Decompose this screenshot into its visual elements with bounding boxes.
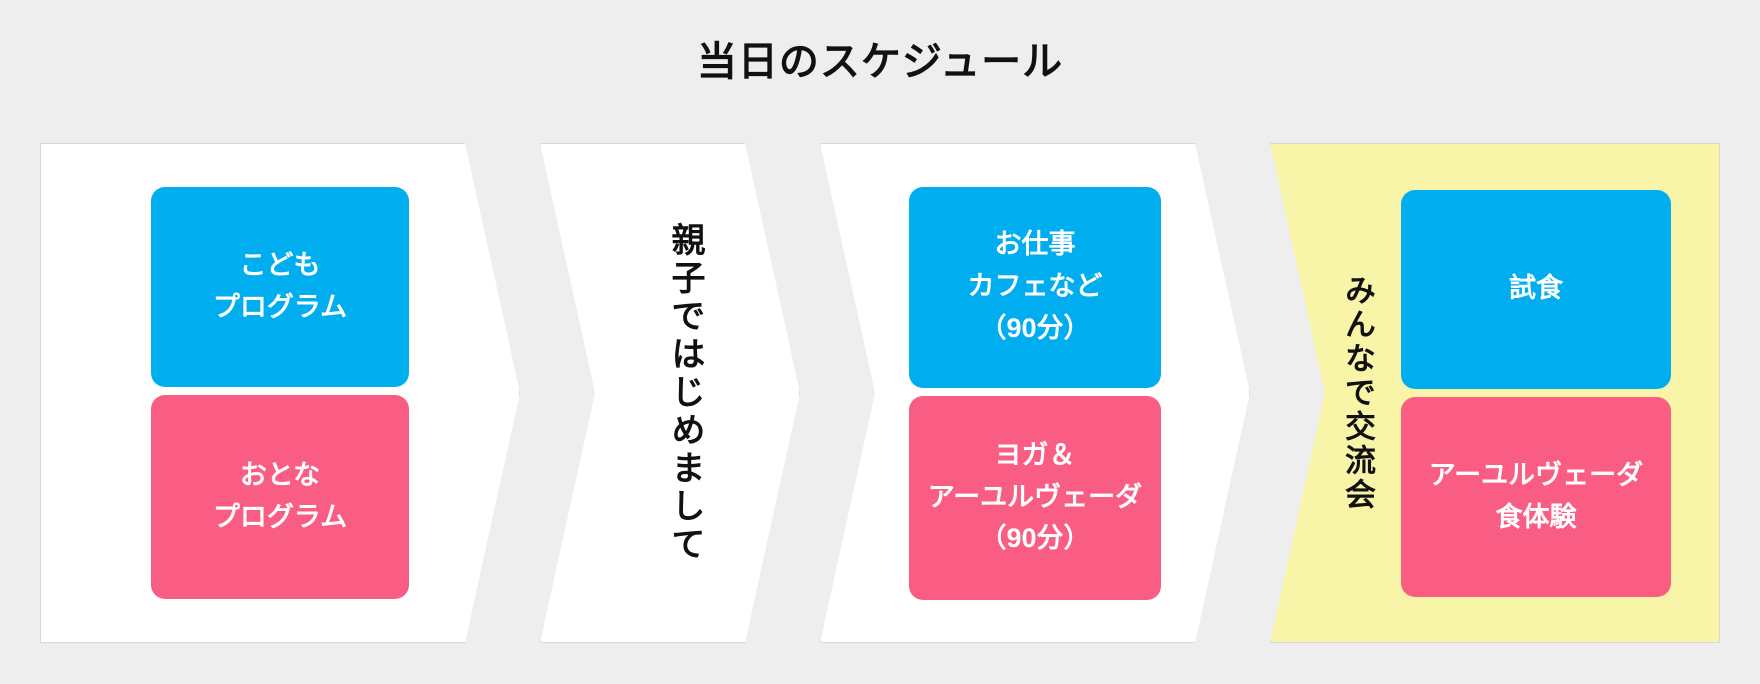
schedule-flow: こども プログラム おとな プログラム 親子ではじめまして お仕事 カフェなど … bbox=[40, 143, 1720, 643]
step-3-content: お仕事 カフェなど （90分） ヨガ＆ アーユルヴェーダ （90分） bbox=[820, 143, 1250, 643]
schedule-step-4: みんなで交流会 試食 アーユルヴェーダ 食体験 bbox=[1270, 143, 1720, 643]
schedule-step-1: こども プログラム おとな プログラム bbox=[40, 143, 520, 643]
step-4-vertical-label: みんなで交流会 bbox=[1342, 274, 1373, 512]
step-4-card-blue: 試食 bbox=[1401, 190, 1671, 389]
step-1-card-group: こども プログラム おとな プログラム bbox=[151, 187, 409, 599]
schedule-step-2: 親子ではじめまして bbox=[540, 143, 800, 643]
step-4-card-group: 試食 アーユルヴェーダ 食体験 bbox=[1401, 190, 1671, 597]
step-3-card-pink: ヨガ＆ アーユルヴェーダ （90分） bbox=[909, 396, 1161, 600]
step-2-content: 親子ではじめまして bbox=[540, 143, 800, 643]
step-1-card-blue: こども プログラム bbox=[151, 187, 409, 387]
step-3-card-group: お仕事 カフェなど （90分） ヨガ＆ アーユルヴェーダ （90分） bbox=[909, 187, 1161, 600]
step-4-card-pink: アーユルヴェーダ 食体験 bbox=[1401, 397, 1671, 597]
schedule-step-3: お仕事 カフェなど （90分） ヨガ＆ アーユルヴェーダ （90分） bbox=[820, 143, 1250, 643]
step-3-card-blue: お仕事 カフェなど （90分） bbox=[909, 187, 1161, 388]
step-4-content: みんなで交流会 試食 アーユルヴェーダ 食体験 bbox=[1270, 143, 1720, 643]
step-2-vertical-label: 親子ではじめまして bbox=[668, 222, 702, 564]
page-title: 当日のスケジュール bbox=[0, 38, 1760, 86]
schedule-diagram: 当日のスケジュール こども プログラム おとな プログラム 親子ではじめまして bbox=[0, 0, 1760, 684]
step-1-content: こども プログラム おとな プログラム bbox=[40, 143, 520, 643]
step-1-card-pink: おとな プログラム bbox=[151, 395, 409, 599]
